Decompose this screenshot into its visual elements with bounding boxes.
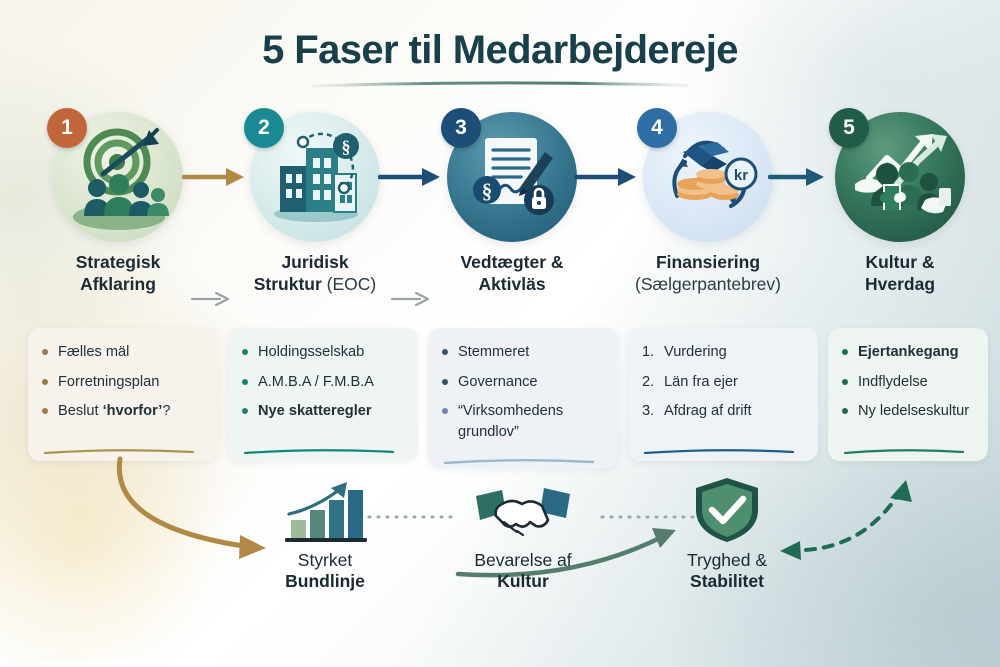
list-item-text: Forretningsplan (58, 374, 159, 390)
bullet-dot (842, 379, 848, 385)
list-item: 2. Län fra ejer (642, 372, 804, 393)
svg-text:§: § (342, 137, 351, 157)
list-item-text-line2: grundlov” (458, 424, 519, 440)
phase-4-icon-wrap: kr 4 (643, 112, 773, 242)
outcome-2-icon-wrap (428, 478, 618, 544)
card-5-underline-icon (844, 449, 964, 454)
phase-4-label-line1: Finansiering (656, 252, 760, 272)
bullet-dot (442, 379, 448, 385)
outcome-3-icon-wrap (632, 478, 822, 544)
detail-card-2-list: Holdingsselskab A.M.B.A / F.M.B.A Nye sk… (242, 342, 404, 422)
list-item-number: 1. (642, 342, 654, 363)
card-4-underline-icon (644, 449, 794, 454)
list-item-text: Ny ledelseskultur (858, 403, 969, 419)
list-item-text-post: ? (162, 403, 170, 419)
phase-3-label-line2: Aktivläs (478, 274, 545, 294)
phase-5-badge: 5 (829, 108, 869, 148)
arrow-phase-4-to-5-icon (768, 164, 826, 190)
list-item-text-line1: “Virksomhedens (458, 403, 563, 419)
list-item-number: 3. (642, 401, 654, 422)
list-item-text: Vurdering (664, 344, 727, 360)
phase-2-badge: 2 (244, 108, 284, 148)
list-item: Indflydelse (842, 372, 974, 393)
outcome-2-line2: Kultur (497, 571, 549, 591)
outcome-2[interactable]: Bevarelse af Kultur (428, 478, 618, 592)
list-item-text: Afdrag af drift (664, 403, 752, 419)
list-item: Forretningsplan (42, 372, 204, 393)
list-item-number: 2. (642, 372, 654, 393)
list-item-text: Stemmeret (458, 344, 529, 360)
list-item-text: Län fra ejer (664, 374, 738, 390)
svg-text:§: § (482, 179, 493, 203)
detail-card-3[interactable]: Stemmeret Governance “Virksomhedens grun… (428, 328, 618, 468)
phase-2-label-line2: Struktur (254, 274, 322, 294)
bullet-dot (442, 408, 448, 414)
shield-check-icon (692, 476, 762, 544)
bullet-dot (42, 349, 48, 355)
list-item-text: Indflydelse (858, 374, 928, 390)
detail-card-2[interactable]: Holdingsselskab A.M.B.A / F.M.B.A Nye sk… (228, 328, 418, 461)
list-item: A.M.B.A / F.M.B.A (242, 372, 404, 393)
page-title: 5 Faser til Medarbejdereje (0, 28, 1000, 73)
svg-text:kr: kr (734, 167, 748, 184)
phase-1-icon-wrap: 1 (53, 112, 183, 242)
handshake-icon (468, 484, 578, 544)
phase-1-label-line1: Strategisk (76, 252, 161, 272)
arrow-label-2-to-3-icon (390, 290, 430, 308)
outcome-3-line1: Tryghed & (687, 550, 767, 570)
detail-card-3-list: Stemmeret Governance “Virksomhedens grun… (442, 342, 604, 443)
phase-5-icon-wrap: 5 (835, 112, 965, 242)
list-item: 1. Vurdering (642, 342, 804, 363)
phase-3-label: Vedtægter & Aktivläs (412, 252, 612, 295)
outcome-1-line2: Bundlinje (285, 571, 365, 591)
list-item-text: Fælles mäl (58, 344, 129, 360)
arrow-phase-3-to-4-icon (574, 164, 638, 190)
phase-4[interactable]: kr 4 Finansiering (Sælgerpantebrev) (608, 112, 808, 295)
phase-2-icon-wrap: § 2 (250, 112, 380, 242)
arrow-phase-1-to-2-icon (182, 164, 246, 190)
title-block: 5 Faser til Medarbejdereje (0, 28, 1000, 88)
list-item-text: Ejertankegang (858, 344, 959, 360)
phase-2-label: Juridisk Struktur (EOC) (215, 252, 415, 295)
list-item: Holdingsselskab (242, 342, 404, 363)
detail-card-4[interactable]: 1. Vurdering 2. Län fra ejer 3. Afdrag a… (628, 328, 818, 461)
outcome-2-line1: Bevarelse af (474, 550, 571, 570)
detail-cards-row: Fælles mäl Forretningsplan Beslut ‘hvorf… (0, 328, 1000, 468)
card-1-underline-icon (44, 449, 194, 454)
list-item-text: Nye skatteregler (258, 403, 372, 419)
arrow-phase-2-to-3-icon (378, 164, 442, 190)
bullet-dot (242, 408, 248, 414)
bar-chart-growth-icon (277, 478, 373, 544)
phase-4-label: Finansiering (Sælgerpantebrev) (608, 252, 808, 295)
list-item: 3. Afdrag af drift (642, 401, 804, 422)
list-item: Nye skatteregler (242, 401, 404, 422)
bullet-dot (242, 379, 248, 385)
phase-1[interactable]: 1 Strategisk Afklaring (18, 112, 218, 295)
phase-4-label-note: (Sælgerpantebrev) (635, 274, 781, 294)
phase-5-label: Kultur & Hverdag (800, 252, 1000, 295)
phase-1-label-line2: Afklaring (80, 274, 156, 294)
phase-1-badge: 1 (47, 108, 87, 148)
bullet-dot (42, 379, 48, 385)
list-item: Stemmeret (442, 342, 604, 363)
phase-5[interactable]: 5 Kultur & Hverdag (800, 112, 1000, 295)
bullet-dot (842, 349, 848, 355)
outcome-1-label: Styrket Bundlinje (230, 550, 420, 592)
phase-2-label-note: (EOC) (327, 274, 377, 294)
list-item: Ejertankegang (842, 342, 974, 363)
list-item-text-pre: Beslut (58, 403, 103, 419)
outcome-3-label: Tryghed & Stabilitet (632, 550, 822, 592)
phase-3-label-line1: Vedtægter & (460, 252, 563, 272)
phase-2-label-line1: Juridisk (281, 252, 348, 272)
detail-card-5-list: Ejertankegang Indflydelse Ny ledelseskul… (842, 342, 974, 422)
detail-card-4-list: 1. Vurdering 2. Län fra ejer 3. Afdrag a… (642, 342, 804, 422)
list-item: Fælles mäl (42, 342, 204, 363)
list-item-text: Governance (458, 374, 538, 390)
list-item: Ny ledelseskultur (842, 401, 974, 422)
card-2-underline-icon (244, 449, 394, 454)
list-item: Governance (442, 372, 604, 393)
phase-5-label-line2: Hverdag (865, 274, 935, 294)
detail-card-5[interactable]: Ejertankegang Indflydelse Ny ledelseskul… (828, 328, 988, 461)
bullet-dot (842, 408, 848, 414)
outcome-3[interactable]: Tryghed & Stabilitet (632, 478, 822, 592)
list-item: “Virksomhedens grundlov” (442, 401, 604, 442)
list-item-text-strong: ‘hvorfor’ (103, 403, 163, 419)
outcome-1[interactable]: Styrket Bundlinje (230, 478, 420, 592)
phase-3[interactable]: § 3 Vedtægter & Aktivläs (412, 112, 612, 295)
phase-2[interactable]: § 2 Juridisk Struktur (EOC) (215, 112, 415, 295)
list-item: Beslut ‘hvorfor’? (42, 401, 204, 422)
card-3-underline-icon (444, 459, 594, 464)
outcomes-row: Styrket Bundlinje Bevarelse af Kultur (0, 478, 1000, 618)
outcome-2-label: Bevarelse af Kultur (428, 550, 618, 592)
outcome-3-line2: Stabilitet (690, 571, 764, 591)
bullet-dot (442, 349, 448, 355)
outcome-1-line1: Styrket (298, 550, 352, 570)
phase-5-label-line1: Kultur & (865, 252, 934, 272)
arrow-label-1-to-2-icon (190, 290, 230, 308)
phase-4-badge: 4 (637, 108, 677, 148)
title-underline-icon (310, 81, 690, 88)
list-item-text: Holdingsselskab (258, 344, 364, 360)
detail-card-1-list: Fælles mäl Forretningsplan Beslut ‘hvorf… (42, 342, 204, 422)
bullet-dot (242, 349, 248, 355)
phases-row: 1 Strategisk Afklaring (0, 112, 1000, 320)
phase-3-badge: 3 (441, 108, 481, 148)
list-item-text: A.M.B.A / F.M.B.A (258, 374, 374, 390)
detail-card-1[interactable]: Fælles mäl Forretningsplan Beslut ‘hvorf… (28, 328, 218, 461)
bullet-dot (42, 408, 48, 414)
outcome-1-icon-wrap (230, 478, 420, 544)
phase-1-label: Strategisk Afklaring (18, 252, 218, 295)
phase-3-icon-wrap: § 3 (447, 112, 577, 242)
infographic-canvas: 5 Faser til Medarbejdereje (0, 0, 1000, 667)
